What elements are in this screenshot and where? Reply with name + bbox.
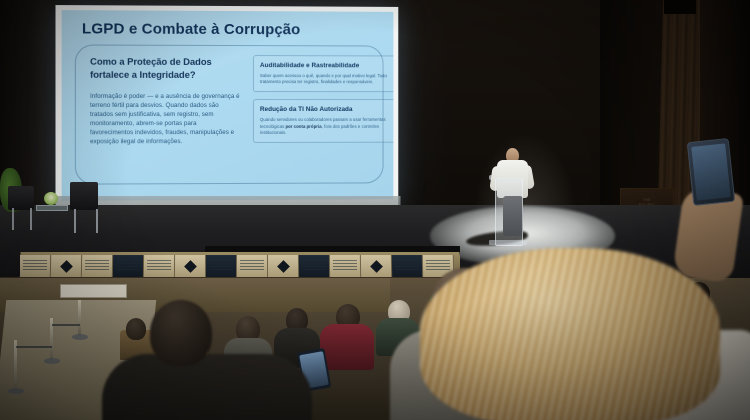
attendee-body: [102, 354, 312, 420]
raised-phone: [687, 138, 735, 206]
slide-left-column: Como a Proteção de Dados fortalece a Int…: [90, 56, 241, 147]
lounge-chair-left: [8, 186, 34, 210]
slide-body-paragraph: Informação é poder — e a ausência de gov…: [90, 92, 241, 147]
card-body: Quando servidores ou colaboradores passa…: [260, 117, 392, 136]
sponsor-panel-diamond: [361, 255, 392, 277]
sponsor-panel: [113, 255, 144, 277]
sponsor-panel-diamond: [175, 255, 206, 277]
slide-card-shadow-it: Redução da TI Não Autorizada Quando serv…: [253, 99, 393, 143]
queue-rope: [52, 324, 80, 326]
attendee-head: [150, 300, 212, 366]
glass-side-table: [36, 205, 68, 211]
card-title: Auditabilidade e Rastreabilidade: [260, 61, 392, 70]
sponsor-panel-diamond: [51, 255, 82, 277]
chair-leg: [96, 209, 98, 233]
projection-screen: LGPD e Combate à Corrupção Como a Proteç…: [55, 5, 398, 209]
presentation-slide: LGPD e Combate à Corrupção Como a Proteç…: [62, 10, 394, 201]
chair-leg: [30, 208, 32, 230]
queue-rope: [16, 346, 52, 348]
wall-notice-panel: [60, 284, 127, 298]
sponsor-panel: [330, 255, 361, 277]
slide-content-panel: Como a Proteção de Dados fortalece a Int…: [75, 44, 384, 184]
sponsor-panel: [20, 255, 51, 277]
ceiling-fixture: [664, 0, 696, 14]
slide-question-heading: Como a Proteção de Dados fortalece a Int…: [90, 56, 241, 81]
slide-right-column: Auditabilidade e Rastreabilidade Saber q…: [253, 55, 393, 143]
lounge-chair-right: [70, 182, 98, 210]
chair-leg: [74, 209, 76, 233]
sponsor-panel: [82, 255, 113, 277]
card-body: Saber quem acessou o quê, quando e por q…: [260, 73, 392, 86]
queue-stanchion: [78, 300, 81, 336]
sponsor-panel: [299, 255, 330, 277]
stanchion-base: [8, 388, 24, 394]
audience-member: [126, 318, 146, 340]
sponsor-panel: [392, 255, 423, 277]
flower-arrangement: [44, 192, 58, 205]
sponsor-panel: [144, 255, 175, 277]
stanchion-base: [44, 358, 60, 364]
phone-screen: [691, 143, 730, 200]
lectern-base: [489, 240, 527, 245]
chair-leg: [12, 208, 14, 230]
sponsor-panel: [237, 255, 268, 277]
stage-front-sponsor-band: [20, 252, 461, 280]
auditorium-photo: THE POLIPEX LGPD e Combate à Corrupção C…: [0, 0, 750, 420]
slide-title: LGPD e Combate à Corrupção: [82, 20, 300, 38]
sponsor-panel-diamond: [268, 255, 299, 277]
stanchion-base: [72, 334, 88, 340]
card-title: Redução da TI Não Autorizada: [260, 105, 392, 114]
foreground-attendee-blonde-hair: [420, 248, 720, 420]
acrylic-lectern: [495, 178, 523, 246]
card-body-bold: por conta própria: [286, 124, 322, 129]
card-body-pre: Saber quem acessou o quê, quando e por q…: [260, 73, 387, 84]
sponsor-panel: [206, 255, 237, 277]
slide-card-auditability: Auditabilidade e Rastreabilidade Saber q…: [253, 55, 393, 92]
